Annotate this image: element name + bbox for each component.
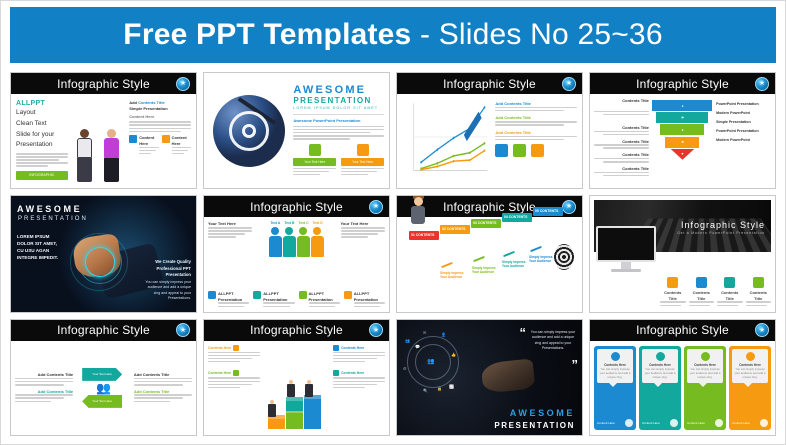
title-line2: PRESENTATION: [18, 216, 88, 222]
arrow-icon: [238, 97, 277, 125]
card-3-body: You can simply impress your audience and…: [689, 367, 721, 380]
slide-body: ✉ 👤 👥 💬 👍 🔍 🔒 📈 ⚙ 👥 “ You can simply imp…: [397, 320, 582, 435]
funnel-right-label-4: PowerPoint Presentation: [716, 129, 771, 133]
globe-logo-icon: ★: [755, 323, 769, 337]
chart-icon: [129, 135, 137, 143]
info-card-3[interactable]: Contents Here You can simply impress you…: [684, 346, 726, 430]
info-card-4[interactable]: Contents Here You can simply impress you…: [729, 346, 771, 430]
step-2-label: 02 CONTENTS: [442, 227, 468, 231]
globe-logo-icon: ★: [369, 323, 383, 337]
tag-3: Contents Here: [208, 370, 260, 376]
text-block-3: Add Contents Title: [495, 130, 577, 140]
businessperson-2: [287, 380, 296, 397]
user-icon: 👤: [441, 332, 446, 337]
funnel-left-lines-2: [594, 131, 649, 136]
bar-chart-icon: [495, 144, 508, 157]
funnel-layer-2: ⚑: [656, 112, 708, 123]
cell-2: Contents Title: [689, 277, 715, 308]
cell-1-title: Contents Title: [660, 290, 686, 302]
card-1-body: You can simply impress your audience and…: [599, 367, 631, 380]
gear-icon: [696, 277, 707, 288]
funnel-right-label-2: Modern PowerPoint: [716, 111, 771, 115]
share-icon: [667, 277, 678, 288]
title-line2: PRESENTATION: [494, 421, 575, 430]
slide3-icon-row: [495, 144, 577, 157]
cell-2-lines: [689, 301, 715, 306]
card-2-footer-label: Content Here: [642, 421, 660, 425]
slide8-title: Infographic Style: [681, 220, 765, 230]
cell-1-button[interactable]: Your Text Here: [293, 158, 336, 166]
slide2-cell-1: Your Text Here: [293, 144, 336, 177]
step-card-2: 02 CONTENTS: [440, 225, 470, 234]
funnel-left-row-4: Contents Title: [594, 152, 649, 162]
funnel-layer-3: ●: [660, 124, 704, 135]
document-icon: [513, 144, 526, 157]
gear-icon: [344, 291, 352, 299]
chat-icon: 💬: [415, 344, 420, 349]
step-note-5: Simply Impress Your Audience: [529, 255, 555, 263]
slide-thumbnail-7[interactable]: Infographic Style ★ Simply Impress Your …: [396, 195, 583, 312]
slide-header-bar: Infographic Style ★: [204, 196, 389, 217]
bar-green: [286, 409, 303, 429]
monitor-graphic: [596, 226, 656, 272]
cycle-arrow-top: Your Text Here: [82, 368, 122, 381]
center-people-icon: 👥: [427, 358, 434, 365]
tab-a[interactable]: Text A: [270, 221, 280, 225]
slide-body: AWESOME PRESENTATION LOREM IPSUM DOLOR S…: [204, 73, 389, 188]
slide-body: Add Contents Title Add Contents Title Yo…: [11, 341, 196, 435]
sub-block-1: Content Here: [129, 135, 158, 156]
card-4-body: You can simply impress your audience and…: [734, 367, 766, 380]
step-note-2: Simply Impress Your Audience: [440, 271, 466, 279]
funnel-left-lines-5: [594, 172, 649, 177]
card-1-title: ALLPPT Presentation: [218, 291, 249, 303]
slide-body: Add Contents Title Add Contents Title Ad…: [397, 94, 582, 188]
arrow-icon-4: [530, 246, 542, 252]
slide-body: ALLPPT Layout Clean Text Slide for your …: [11, 94, 196, 188]
funnel-right-labels: PowerPoint Presentation Modern PowerPoin…: [716, 98, 771, 184]
dartboard-graphic: [213, 95, 285, 167]
info-card-2[interactable]: Contents Here You can simply impress you…: [639, 346, 681, 430]
figure-blue: [269, 227, 282, 257]
sub-block-2: Content Here: [162, 135, 191, 156]
step-note-4: Simply Impress Your Audience: [502, 260, 528, 268]
card-2-bubble: Contents Here You can simply impress you…: [642, 349, 678, 384]
slide-header-title: Infographic Style: [636, 323, 729, 337]
slide2-cell-2: Your Text Here: [341, 144, 384, 177]
headline-4: Presentation: [16, 140, 68, 150]
people-icon: 👥: [96, 381, 111, 395]
funnel-left-row-5: Contents Title: [594, 166, 649, 176]
slide-header-bar: Infographic Style ★: [204, 320, 389, 341]
slide3-text-column: Add Contents Title Add Contents Title Ad…: [495, 99, 577, 183]
left-block-2-lines: [15, 394, 73, 402]
sub-block-1-lines: [139, 147, 158, 155]
headline-3: Slide for your: [16, 130, 68, 140]
tag-1: Contents Here: [208, 345, 260, 351]
search-icon: 🔍: [423, 388, 428, 393]
card-4-footer-label: Content Here: [732, 421, 750, 425]
section-title: Awesome PowerPoint Presentation: [293, 118, 384, 124]
section-lines: [293, 126, 384, 140]
page-banner: Free PPT Templates - Slides No 25~36: [10, 7, 776, 63]
card-4-footer: Content Here: [732, 419, 768, 427]
right-block-2-lines: [134, 394, 192, 402]
globe-logo-icon: ★: [562, 200, 576, 214]
slide-thumbnail-8[interactable]: Infographic Style Get a Modern PowerPoin…: [589, 195, 776, 312]
cell-3-lines: [717, 301, 743, 306]
tag-1-lines: [208, 352, 260, 363]
cell-1-lines: [293, 168, 336, 176]
step-4-label: 04 CONTENTS: [504, 215, 530, 219]
title-line1: AWESOME: [17, 204, 82, 214]
funnel-left-labels: Contents Title Contents Title Contents T…: [594, 98, 649, 184]
tag-4: Contents Here: [333, 370, 385, 376]
slide-header-title: Infographic Style: [636, 77, 729, 91]
slide-header-bar: Infographic Style ★: [590, 320, 775, 341]
businessperson-3: [305, 380, 314, 397]
slide-header-title: Infographic Style: [250, 200, 343, 214]
slide-thumbnail-12[interactable]: Infographic Style ★ Contents Here You ca…: [589, 319, 776, 436]
color-tabs: Text A Text B Text C Text D: [270, 221, 322, 225]
camera-icon: [299, 291, 307, 299]
slide1-right-column: Add Contents Title Simple Presentation C…: [129, 100, 191, 182]
card-2-title: ALLPPT Presentation: [263, 291, 294, 303]
slide-header-title: Infographic Style: [250, 323, 343, 337]
funnel-left-lines-4: [594, 158, 649, 163]
slide-thumbnail-4[interactable]: Infographic Style ★ Contents Title Conte…: [589, 72, 776, 189]
arrow-icon-1: [441, 262, 453, 268]
arrow-icon-2: [473, 256, 485, 262]
share-icon: [611, 352, 620, 361]
cell-4-title: Contents Title: [746, 290, 772, 302]
tag-2-label: Contents Here: [341, 346, 364, 350]
funnel-layer-5: ▼: [670, 149, 694, 160]
clock-icon: [701, 352, 710, 361]
people-icon: [357, 144, 369, 156]
step-5-label: 05 CONTENTS: [535, 209, 561, 213]
lock-icon: 🔒: [437, 386, 442, 391]
tab-d[interactable]: Text D: [313, 221, 323, 225]
right-subtitle: Simple Presentation: [129, 106, 191, 112]
chat-icon: [753, 277, 764, 288]
bottom-card-4: ALLPPT Presentation: [344, 291, 385, 309]
headline-2: Clean Text: [16, 119, 68, 129]
step-note-3: Simply Impress Your Audience: [472, 266, 498, 274]
slide9-right-column: Add Contents Title Add Contents Title: [134, 372, 192, 404]
slide-header-bar: Infographic Style ★: [397, 73, 582, 94]
headline-1: Layout: [16, 108, 68, 118]
funnel-right-label-3: Simple Presentation: [716, 120, 771, 124]
chart-icon: 📈: [449, 384, 454, 389]
group-icon: 👥: [405, 338, 410, 343]
tag-3-label: Contents Here: [208, 371, 231, 375]
slide-thumbnail-1[interactable]: Infographic Style ★ ALLPPT Layout Clean …: [10, 72, 197, 189]
slide-header-title: Infographic Style: [57, 77, 150, 91]
sub-block-1-title: Content Here: [139, 135, 158, 147]
card-3-title: ALLPPT Presentation: [309, 291, 340, 303]
slide-body: Contents Title Contents Title Contents T…: [590, 94, 775, 188]
slide-body: Contents Here You can simply impress you…: [590, 341, 775, 435]
right-body-lines: [129, 121, 191, 132]
funnel-right-label-1: PowerPoint Presentation: [716, 102, 771, 106]
banner-title-main: Free PPT Templates: [123, 18, 411, 51]
slide-body: Your Text Here Text A Text B Text C Text…: [204, 217, 389, 311]
slide-thumbnail-3[interactable]: Infographic Style ★: [396, 72, 583, 189]
hierarchy-icon: [309, 144, 321, 156]
print-icon: [746, 352, 755, 361]
line-chart-svg: [402, 99, 490, 183]
info-card-1[interactable]: Contents Here You can simply impress you…: [594, 346, 636, 430]
subtitle: LOREM IPSUM DOLOR SIT AMET: [293, 106, 384, 110]
left-text: LOREM IPSUM DOLOR SIT AMET, CU USU AGAN …: [17, 234, 63, 262]
globe-logo-icon: ★: [176, 323, 190, 337]
globe-logo-icon: ★: [369, 200, 383, 214]
cell-1: Contents Title: [660, 277, 686, 308]
figure-group: [269, 227, 324, 257]
person-female: [104, 129, 119, 182]
figure-teal: [283, 227, 296, 257]
bottom-card-2: ALLPPT Presentation: [253, 291, 294, 309]
quote-open-icon: “: [520, 328, 527, 337]
right-body: You can simply impress your audience and…: [143, 280, 191, 302]
cell-4: Contents Title: [746, 277, 772, 308]
slide-header-bar: Infographic Style ★: [11, 320, 196, 341]
quote-text: You can simply impress your audience and…: [530, 330, 576, 352]
card-1-lines: [218, 302, 249, 307]
left-lines: [208, 227, 252, 238]
rocket-icon: [531, 144, 544, 157]
step-3-label: 03 CONTENTS: [473, 221, 499, 225]
cell-2-title: Contents Title: [689, 290, 715, 302]
chart-icon: [253, 291, 261, 299]
quote-close-icon: ”: [572, 360, 579, 369]
slide9-left-column: Add Contents Title Add Contents Title: [15, 372, 73, 404]
slide-header-bar: Infographic Style ★: [11, 73, 196, 94]
cycle-arrow-bottom: Your Text Here: [82, 395, 122, 408]
funnel-graphic: ● ⚑ ● ■ ▼: [649, 98, 716, 184]
infographic-button[interactable]: INFOGRAPHIC: [16, 171, 68, 180]
slide-header-bar: Infographic Style ★: [590, 73, 775, 94]
card-3-bubble: Contents Here You can simply impress you…: [687, 349, 723, 384]
person-male: [77, 129, 92, 182]
step-card-3: 03 CONTENTS: [471, 219, 501, 228]
tag-2-lines: [333, 352, 385, 363]
template-gallery-page: Free PPT Templates - Slides No 25~36 Inf…: [0, 0, 786, 445]
funnel-left-lines-1: [594, 111, 649, 117]
slide-body: Infographic Style Get a Modern PowerPoin…: [590, 196, 775, 311]
businessperson-1: [268, 400, 277, 417]
title-line2: PRESENTATION: [293, 96, 384, 105]
slide-thumbnail-9[interactable]: Infographic Style ★ Add Contents Title A…: [10, 319, 197, 436]
tag-4-swatch: [333, 370, 339, 376]
title-line1: AWESOME: [293, 84, 384, 96]
card-2-footer: Content Here: [642, 419, 678, 427]
archer-character: [407, 195, 429, 226]
tag-1-swatch: [233, 345, 239, 351]
slide-body: Contents Here Contents Here: [204, 341, 389, 435]
globe-logo-icon: ★: [562, 77, 576, 91]
cell-3-title: Contents Title: [717, 290, 743, 302]
slide8-subtitle: Get a Modern PowerPoint Presentation: [677, 231, 765, 235]
funnel-left-title-1: Contents Title: [594, 98, 649, 104]
cell-2-button[interactable]: Your Text Here: [341, 158, 384, 166]
funnel-right-label-5: Modern PowerPoint: [716, 138, 771, 142]
funnel-left-row-2: Contents Title: [594, 125, 649, 135]
cell-2-lines: [341, 168, 384, 176]
sub-block-2-lines: [172, 147, 191, 155]
thumb-icon: 👍: [451, 352, 456, 357]
tab-c[interactable]: Text C: [298, 221, 308, 225]
cell-3: Contents Title: [717, 277, 743, 308]
slide1-illustration: [72, 100, 125, 182]
tag-1-label: Contents Here: [208, 346, 231, 350]
globe-logo-icon: ★: [755, 77, 769, 91]
money-icon: [162, 135, 170, 143]
funnel-left-lines-3: [594, 144, 649, 149]
card-4-bubble: Contents Here You can simply impress you…: [732, 349, 768, 384]
block-1-lines: [495, 107, 577, 112]
globe-logo-icon: ★: [176, 77, 190, 91]
target-ring-inner: [85, 247, 115, 277]
line-chart: [402, 99, 490, 183]
two-people-illustration: [75, 120, 121, 182]
hand-graphic: [481, 359, 536, 394]
slide10-left-column: Contents Here Contents Here: [208, 345, 260, 431]
tag-4-lines: [333, 377, 385, 388]
right-label: Content Here: [129, 114, 191, 120]
slide2-text-column: AWESOME PRESENTATION LOREM IPSUM DOLOR S…: [293, 78, 384, 183]
right-title: We Create Quality Professional PPT Prese…: [143, 259, 191, 278]
bar-orange: [268, 415, 285, 429]
funnel-layer-4: ■: [665, 137, 699, 148]
slide-thumbnail-11[interactable]: ✉ 👤 👥 💬 👍 🔍 🔒 📈 ⚙ 👥 “ You can simply imp…: [396, 319, 583, 436]
thumb-icon: [656, 352, 665, 361]
slide-header-title: Infographic Style: [443, 77, 536, 91]
mail-icon: ✉: [423, 330, 426, 335]
card-4-title: ALLPPT Presentation: [354, 291, 385, 303]
left-block-1-lines: [15, 378, 73, 386]
card-3-footer-label: Content Here: [687, 421, 705, 425]
slide1-left-column: ALLPPT Layout Clean Text Slide for your …: [16, 100, 68, 182]
block-3-lines: [495, 136, 577, 141]
tag-4-label: Contents Here: [341, 371, 364, 375]
monitor-icon: [208, 291, 216, 299]
network-icons-graphic: ✉ 👤 👥 💬 👍 🔍 🔒 📈 ⚙ 👥: [401, 326, 463, 398]
slide6-bottom-cards: ALLPPT Presentation ALLPPT Presentation …: [208, 291, 385, 309]
card-1-footer: Content Here: [597, 419, 633, 427]
step-card-5: 05 CONTENTS: [533, 207, 563, 216]
card-4-lines: [354, 302, 385, 307]
brand-label: ALLPPT: [16, 100, 68, 107]
body-text-lines: [16, 153, 68, 167]
step-card-4: 04 CONTENTS: [502, 213, 532, 222]
card-2-body: You can simply impress your audience and…: [644, 367, 676, 380]
figure-orange: [311, 227, 324, 257]
gear-icon: ⚙: [403, 366, 407, 371]
slide8-icon-cells: Contents Title Contents Title Contents T…: [660, 277, 771, 308]
card-1-footer-label: Content Here: [597, 421, 615, 425]
tag-2: Contents Here: [333, 345, 385, 351]
funnel-left-row-3: Contents Title: [594, 139, 649, 149]
card-1-bubble: Contents Here You can simply impress you…: [597, 349, 633, 384]
funnel-left-row-1: Contents Title: [594, 98, 649, 122]
figure-green: [297, 227, 310, 257]
tab-b[interactable]: Text B: [284, 221, 294, 225]
bottom-card-3: ALLPPT Presentation: [299, 291, 340, 309]
slide-body: AWESOME PRESENTATION LOREM IPSUM DOLOR S…: [11, 196, 196, 311]
text-block-2: Add Contents Title: [495, 115, 577, 125]
slide10-right-column: Contents Here Contents Here: [333, 345, 385, 431]
bottom-card-1: ALLPPT Presentation: [208, 291, 249, 309]
card-3-lines: [309, 302, 340, 307]
banner-title: Free PPT Templates - Slides No 25~36: [123, 18, 662, 52]
bar-teal: [286, 397, 303, 411]
slide-body: Simply Impress Your Audience Simply Impr…: [397, 238, 582, 244]
target-image: [209, 78, 289, 183]
card-2-lines: [263, 302, 294, 307]
cycle-diagram: Your Text Here Your Text Here 👥: [76, 362, 131, 414]
slides-grid: Infographic Style ★ ALLPPT Layout Clean …: [10, 72, 776, 436]
slide-header-title: Infographic Style: [57, 323, 150, 337]
tag-3-lines: [208, 377, 260, 388]
slide-thumbnail-10[interactable]: Infographic Style ★ Contents Here Conten…: [203, 319, 390, 436]
right-text-block: We Create Quality Professional PPT Prese…: [143, 259, 191, 301]
card-3-footer: Content Here: [687, 419, 723, 427]
funnel-layer-1: ●: [652, 100, 712, 111]
tag-2-swatch: [333, 345, 339, 351]
tag-3-swatch: [233, 370, 239, 376]
right-block-1-lines: [134, 378, 192, 386]
step-1-label: 01 CONTENTS: [411, 233, 437, 237]
step-card-1: 01 CONTENTS: [409, 231, 439, 240]
banner-title-rest: - Slides No 25~36: [411, 18, 662, 51]
arrow-icon-3: [503, 251, 515, 257]
slide-thumbnail-2[interactable]: AWESOME PRESENTATION LOREM IPSUM DOLOR S…: [203, 72, 390, 189]
cell-4-lines: [746, 301, 772, 306]
block-2-lines: [495, 121, 577, 126]
slide-thumbnail-6[interactable]: Infographic Style ★ Your Text Here Text …: [203, 195, 390, 312]
cell-1-lines: [660, 301, 686, 306]
right-lines: [341, 227, 385, 238]
target-icon: [554, 244, 574, 270]
bar-blue: [304, 395, 321, 429]
slide-header-title: Infographic Style: [443, 200, 536, 214]
slide-thumbnail-5[interactable]: AWESOME PRESENTATION LOREM IPSUM DOLOR S…: [10, 195, 197, 312]
title-line1: AWESOME: [510, 408, 575, 418]
bar-blocks-graphic: [262, 345, 331, 431]
text-block-1: Add Contents Title: [495, 101, 577, 111]
list-icon: [724, 277, 735, 288]
sub-block-2-title: Content Here: [172, 135, 191, 147]
